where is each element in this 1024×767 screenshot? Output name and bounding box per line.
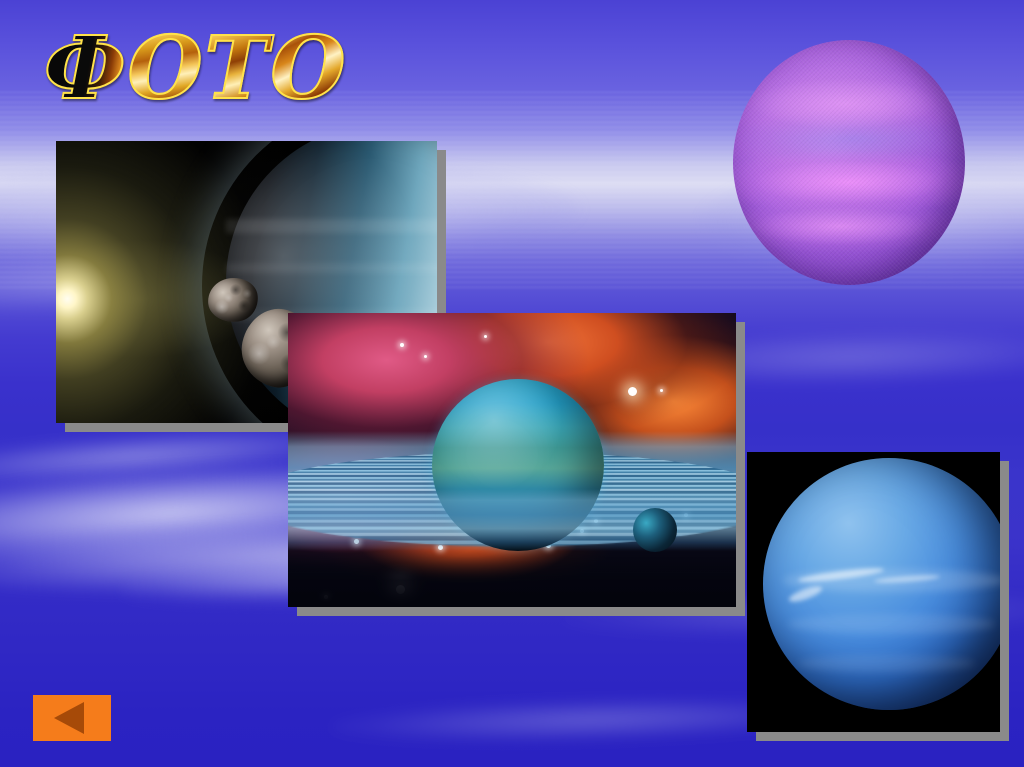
presentation-slide: ФОТО Purple magenta planet sphere Planet… <box>0 0 1024 767</box>
title-letter-1: Ф <box>44 26 128 112</box>
purple-planet-image[interactable]: Purple magenta planet sphere <box>733 40 965 285</box>
title-letter-4: О <box>271 26 348 112</box>
title-letter-2: О <box>128 26 205 112</box>
photo-ringed-planet[interactable]: Teal ringed planet over orange nebula <box>288 313 736 607</box>
page-title: ФОТО <box>44 26 347 112</box>
photo-2-scene <box>288 313 736 607</box>
triangle-left-icon <box>54 702 84 734</box>
photo-3-scene <box>747 452 1000 732</box>
photo-neptune[interactable]: Neptune on black background <box>747 452 1000 732</box>
back-button[interactable]: Back <box>33 695 111 741</box>
title-letter-3: Т <box>205 26 271 112</box>
moon-body <box>633 508 677 552</box>
scene-vignette <box>288 548 736 607</box>
planet-body <box>763 458 1000 710</box>
